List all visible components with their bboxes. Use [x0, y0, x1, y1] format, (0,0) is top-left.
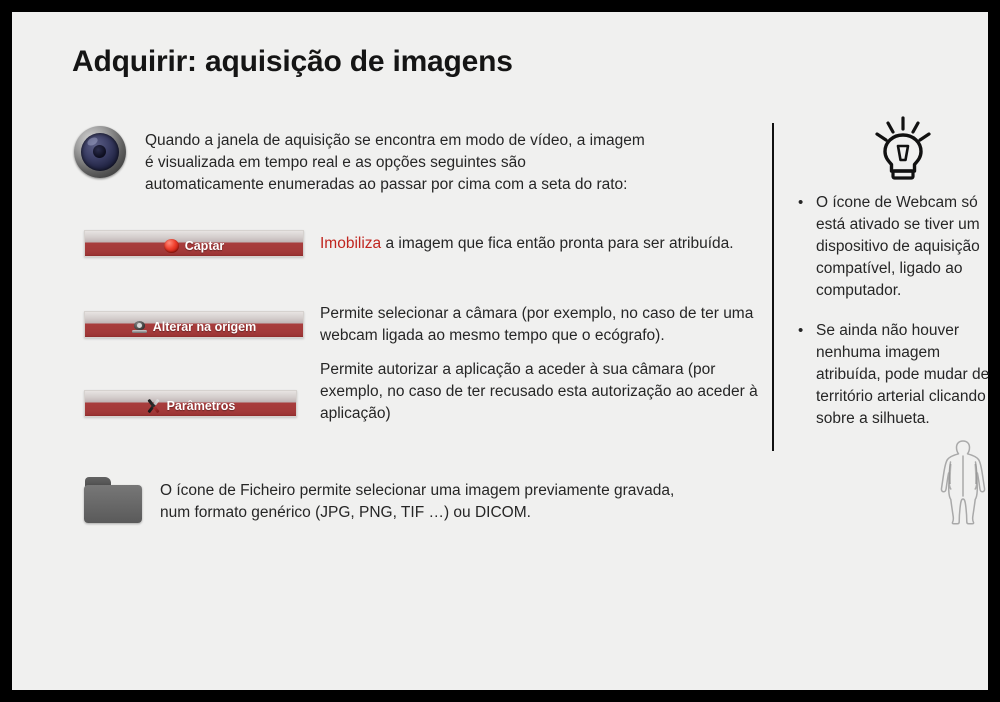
- file-section-description: O ícone de Ficheiro permite selecionar u…: [160, 480, 690, 524]
- captar-description-highlight: Imobiliza: [320, 235, 381, 252]
- tools-icon: [146, 399, 161, 413]
- folder-body: [84, 485, 142, 523]
- slide-frame: Adquirir: aquisição de imagens Quando a …: [0, 0, 1000, 702]
- folder-icon: [84, 477, 142, 523]
- record-circle-icon: [164, 239, 179, 253]
- captar-button[interactable]: Captar: [84, 230, 304, 257]
- captar-button-label: Captar: [185, 240, 225, 253]
- tips-list: • O ícone de Webcam só está ativado se t…: [798, 192, 990, 448]
- list-item: • O ícone de Webcam só está ativado se t…: [798, 192, 990, 302]
- human-body-silhouette-icon[interactable]: [930, 438, 996, 526]
- page-title: Adquirir: aquisição de imagens: [72, 45, 513, 79]
- captar-description-rest: a imagem que fica então pronta para ser …: [381, 235, 733, 252]
- captar-description: Imobiliza a imagem que fica então pronta…: [320, 233, 780, 255]
- slide-canvas: Adquirir: aquisição de imagens Quando a …: [12, 12, 988, 690]
- parametros-button-label: Parâmetros: [167, 400, 236, 413]
- parametros-description: Permite autorizar a aplicação a aceder à…: [320, 359, 760, 425]
- tip-text: Se ainda não houver nenhuma imagem atrib…: [816, 320, 990, 430]
- lightbulb-icon: [872, 116, 934, 182]
- tip-text: O ícone de Webcam só está ativado se tiv…: [816, 192, 990, 302]
- alterar-na-origem-button-label: Alterar na origem: [153, 321, 257, 334]
- intro-paragraph: Quando a janela de aquisição se encontra…: [145, 130, 645, 196]
- camera-lens-icon: [70, 124, 130, 180]
- alterar-na-origem-button[interactable]: Alterar na origem: [84, 311, 304, 338]
- bullet-icon: •: [798, 192, 816, 302]
- alterar-na-origem-description: Permite selecionar a câmara (por exemplo…: [320, 303, 760, 347]
- parametros-button[interactable]: Parâmetros: [84, 390, 297, 417]
- bullet-icon: •: [798, 320, 816, 430]
- webcam-icon: [132, 320, 147, 334]
- list-item: • Se ainda não houver nenhuma imagem atr…: [798, 320, 990, 430]
- vertical-divider: [772, 123, 774, 451]
- camera-lens-pupil: [93, 145, 106, 158]
